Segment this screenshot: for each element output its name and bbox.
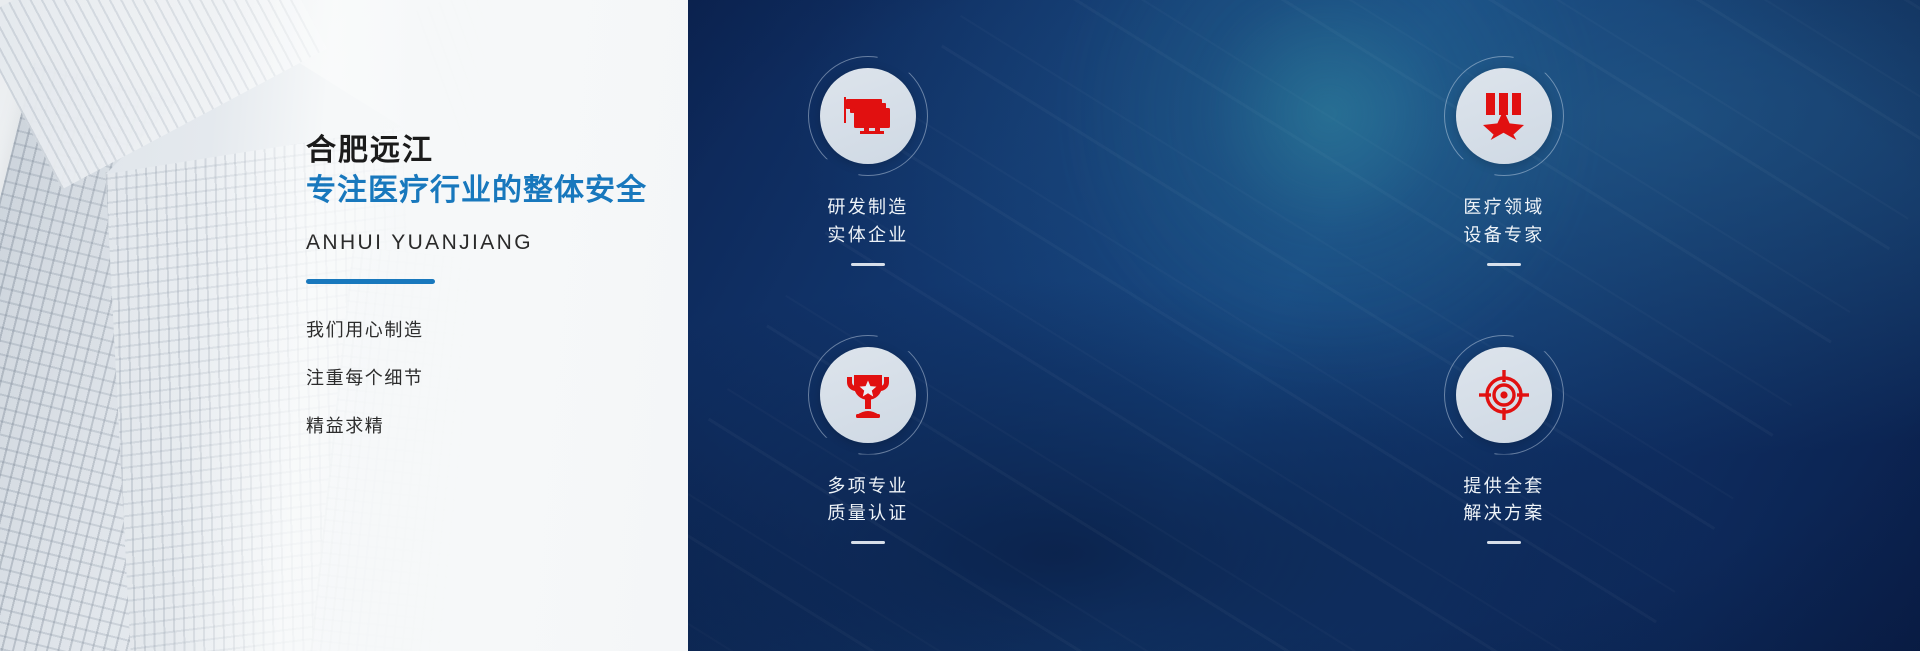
slogan-list: 我们用心制造 注重每个细节 精益求精 [306, 321, 676, 435]
feature-caption-line1: 研发制造 [827, 197, 908, 217]
caption-underline [851, 541, 885, 544]
feature-grid: 研发制造 实体企业 [688, 0, 1920, 651]
factory-icon [842, 96, 894, 136]
badge-disc [820, 68, 916, 164]
badge-disc [1456, 347, 1552, 443]
page-title-english: ANHUI YUANJIANG [306, 231, 676, 255]
slogan-item: 注重每个细节 [306, 369, 676, 387]
feature-caption-line2: 实体企业 [827, 222, 908, 250]
caption-underline [1487, 541, 1521, 544]
feature-badge [820, 347, 916, 443]
hero-copy-block: 合肥远江 专注医疗行业的整体安全 ANHUI YUANJIANG 我们用心制造 … [306, 132, 676, 435]
feature-card-full-solution[interactable]: 提供全套 解决方案 [1196, 329, 1812, 630]
badge-disc [820, 347, 916, 443]
right-features-panel: 研发制造 实体企业 [688, 0, 1920, 651]
caption-underline [851, 263, 885, 266]
accent-divider [306, 279, 435, 284]
caption-underline [1487, 263, 1521, 266]
page-subtitle: 专注医疗行业的整体安全 [306, 172, 676, 210]
feature-caption-line1: 多项专业 [827, 476, 908, 496]
feature-caption-line1: 提供全套 [1463, 476, 1544, 496]
medal-star-icon [1481, 92, 1527, 140]
slogan-item: 精益求精 [306, 417, 676, 435]
feature-caption: 多项专业 质量认证 [827, 473, 908, 529]
feature-card-quality-certification[interactable]: 多项专业 质量认证 [688, 329, 1176, 630]
feature-badge [1456, 68, 1552, 164]
feature-card-rd-manufacturing[interactable]: 研发制造 实体企业 [688, 28, 1176, 329]
feature-badge [820, 68, 916, 164]
feature-caption: 提供全套 解决方案 [1463, 473, 1544, 529]
target-icon [1479, 370, 1529, 420]
feature-caption-line2: 解决方案 [1463, 500, 1544, 528]
feature-card-medical-expert[interactable]: 医疗领域 设备专家 [1196, 28, 1812, 329]
trophy-icon [843, 371, 893, 419]
page-title: 合肥远江 [306, 132, 676, 170]
badge-disc [1456, 68, 1552, 164]
feature-badge [1456, 347, 1552, 443]
feature-caption-line2: 设备专家 [1463, 222, 1544, 250]
slogan-item: 我们用心制造 [306, 321, 676, 339]
feature-caption-line2: 质量认证 [827, 500, 908, 528]
feature-caption-line1: 医疗领域 [1463, 197, 1544, 217]
left-hero-panel: 合肥远江 专注医疗行业的整体安全 ANHUI YUANJIANG 我们用心制造 … [0, 0, 688, 651]
feature-caption: 研发制造 实体企业 [827, 194, 908, 250]
promo-banner: 合肥远江 专注医疗行业的整体安全 ANHUI YUANJIANG 我们用心制造 … [0, 0, 1920, 651]
feature-caption: 医疗领域 设备专家 [1463, 194, 1544, 250]
